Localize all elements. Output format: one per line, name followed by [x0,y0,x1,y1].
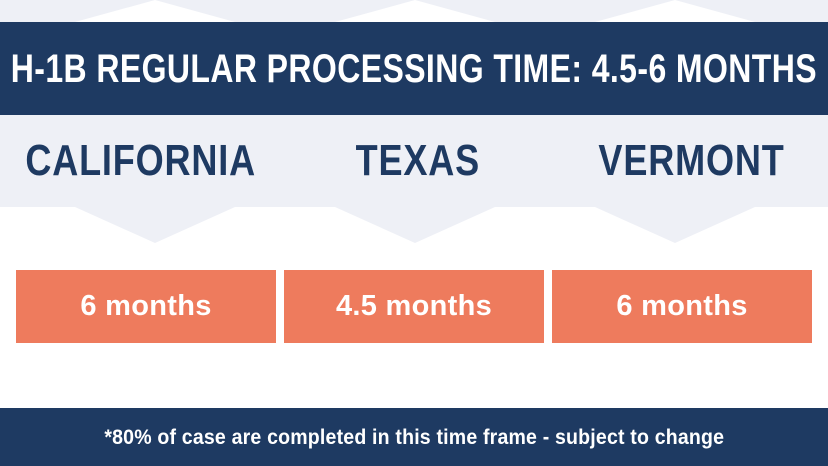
infographic-card: H-1B REGULAR PROCESSING TIME: 4.5-6 MONT… [0,0,828,466]
value-box-california: 6 months [16,270,276,343]
chevron-down-icon [335,207,495,243]
footer-bar: *80% of case are completed in this time … [0,408,828,466]
value-label: 6 months [616,292,747,321]
chevron-up-icon [595,0,755,22]
state-name-row: CALIFORNIA TEXAS VERMONT [0,130,828,192]
state-label: TEXAS [356,139,480,183]
state-column-california: CALIFORNIA [0,130,281,192]
state-column-texas: TEXAS [281,130,554,192]
state-label: VERMONT [598,139,784,183]
value-label: 4.5 months [336,292,492,321]
processing-time-row: 6 months 4.5 months 6 months [16,270,812,343]
chevron-down-icon [595,207,755,243]
chevron-up-icon [335,0,495,22]
footnote: *80% of case are completed in this time … [104,427,724,448]
value-box-texas: 4.5 months [284,270,544,343]
chevron-up-icon [75,0,235,22]
value-label: 6 months [80,292,211,321]
value-box-vermont: 6 months [552,270,812,343]
state-column-vermont: VERMONT [555,130,828,192]
header-bar: H-1B REGULAR PROCESSING TIME: 4.5-6 MONT… [0,22,828,115]
page-title: H-1B REGULAR PROCESSING TIME: 4.5-6 MONT… [11,49,817,89]
chevron-down-icon [75,207,235,243]
state-label: CALIFORNIA [25,139,256,183]
